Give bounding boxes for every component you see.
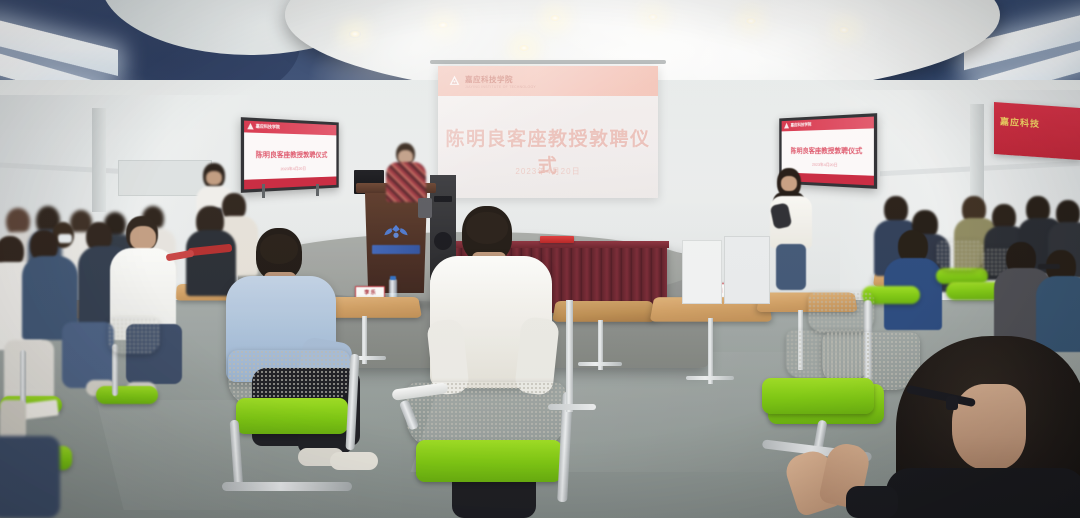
eyeglasses-lens (946, 396, 958, 410)
chair-back (108, 318, 160, 354)
wall-banner: 嘉应科技 (994, 102, 1080, 160)
chair-base (222, 482, 352, 491)
shoe (330, 452, 378, 470)
desk-leg (566, 300, 573, 412)
wall-banner-text: 嘉应科技 (1000, 114, 1040, 130)
tv-footer-band (244, 176, 336, 189)
audience-torso (1036, 276, 1080, 352)
wall-tv-left: 嘉应科技学院 陈明良客座教授敦聘仪式 2023年4月20日 (241, 117, 339, 193)
tv-logo-text: 嘉应科技学院 (791, 122, 812, 129)
desk-foot (686, 376, 734, 380)
desk-leg (708, 318, 713, 384)
tv-title: 陈明良客座教授敦聘仪式 (782, 146, 874, 157)
ceiling-downlight (518, 44, 530, 52)
side-panel-board (724, 236, 770, 304)
screen-glare (438, 66, 658, 198)
chair-seat (236, 398, 348, 434)
lecture-hall-photo: 嘉应科技学院 JIAYING INSTITUTE OF TECHNOLOGY 陈… (0, 0, 1080, 518)
eyeglasses (1038, 264, 1060, 269)
host-legs (776, 244, 806, 290)
speaker-grille (434, 196, 452, 202)
desk-foot (578, 362, 622, 366)
audience-face (130, 226, 156, 250)
audience-arm (0, 400, 26, 440)
tv-date: 2023年4月20日 (782, 161, 874, 169)
name-placard-text: 李 乐 (358, 290, 382, 297)
certificate-folder (540, 236, 574, 243)
standing-person-face (206, 171, 222, 185)
tv-mount-left (262, 184, 265, 198)
foreground-person-shoulders (886, 468, 1080, 518)
chair-seat (416, 440, 562, 482)
side-panel-board (682, 240, 722, 304)
chair-seat (762, 378, 874, 414)
tv-logo-text: 嘉应科技学院 (256, 123, 280, 130)
projection-screen: 嘉应科技学院 JIAYING INSTITUTE OF TECHNOLOGY 陈… (438, 66, 658, 198)
chair-back (936, 240, 984, 270)
tv-mount-left (316, 184, 319, 196)
desk-foot (548, 404, 596, 410)
wall-column (92, 108, 106, 212)
audience-legs (0, 436, 60, 518)
tv-title: 陈明良客座教授敦聘仪式 (244, 150, 336, 161)
face-mask (58, 234, 72, 243)
chair-frame (20, 350, 26, 406)
lectern-nameplate (372, 245, 420, 254)
bottle-cap (390, 276, 396, 280)
host-face (781, 176, 797, 191)
screen-top-rail (430, 60, 666, 64)
lectern-emblem-icon (383, 222, 409, 242)
foreground-person-arm (846, 486, 898, 518)
attendee-white-hair (466, 212, 508, 244)
tv-date: 2023年4月20日 (244, 165, 336, 173)
chair-seat (96, 386, 158, 404)
equipment-box (418, 198, 432, 218)
speaker-torso (386, 162, 426, 202)
speaker-driver (434, 232, 452, 250)
audience-torso (186, 230, 236, 296)
audience-legs (62, 322, 114, 388)
attendee-blue-hair (260, 234, 298, 264)
